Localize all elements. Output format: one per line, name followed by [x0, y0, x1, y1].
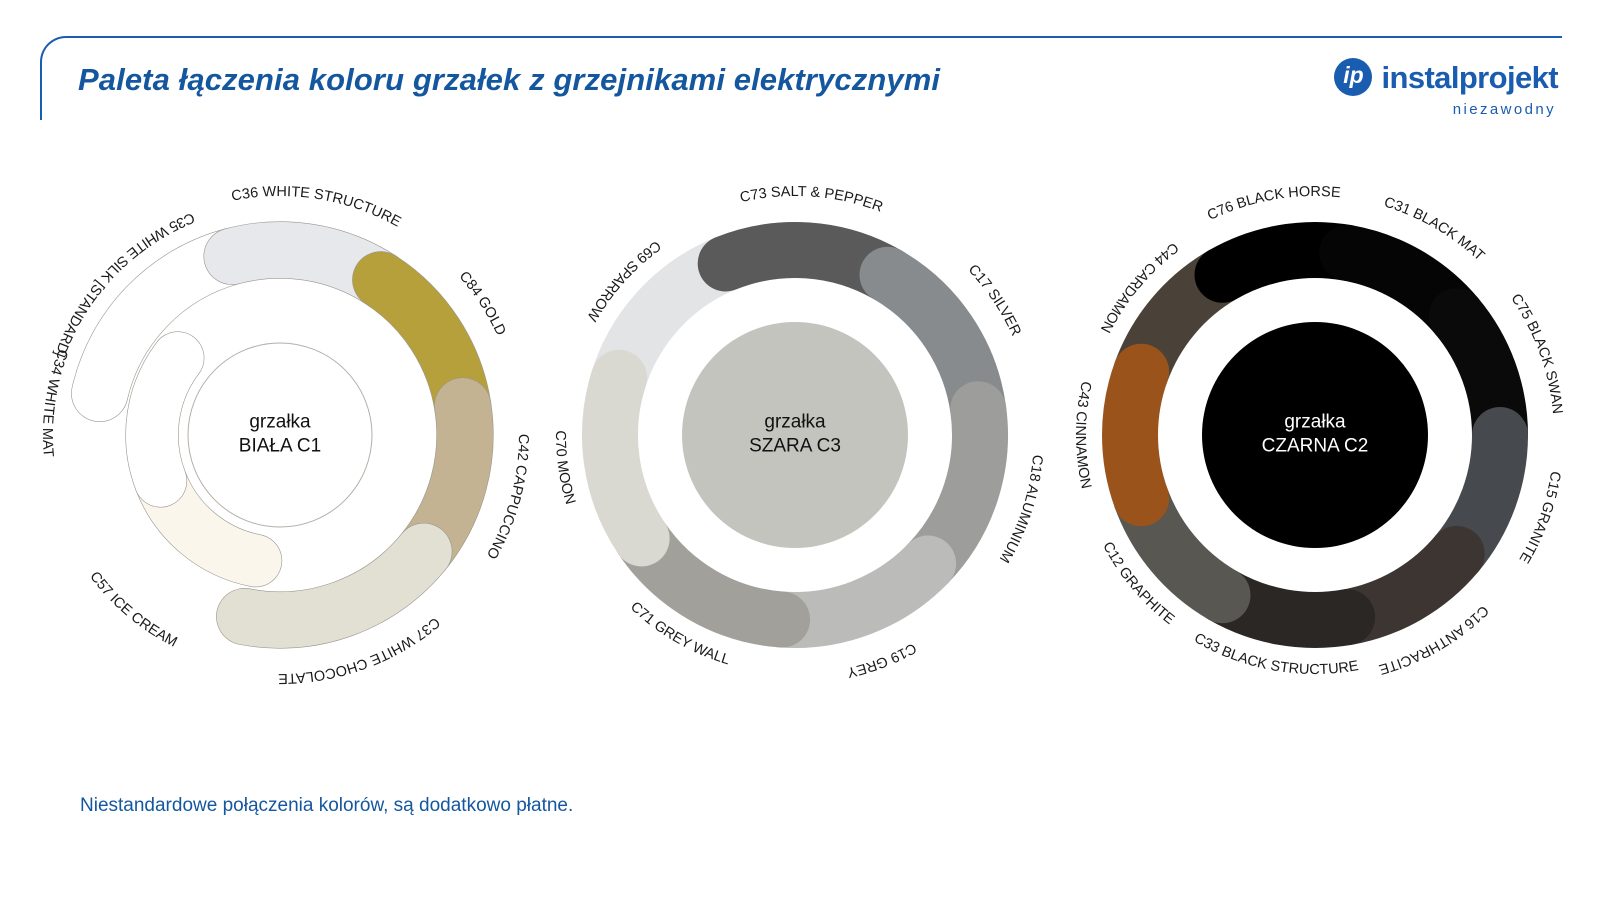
wheel-grey: C69 SPARROWC73 SALT & PEPPERC17 SILVERC1… [525, 150, 1065, 770]
wheel-segment[interactable] [1130, 372, 1141, 499]
wheel-center-label: grzałkaCZARNA C2 [1262, 411, 1369, 460]
wheel-white: C35 WHITE SILK [STANDARD]C36 WHITE STRUC… [10, 150, 550, 770]
ip-logo-icon: ip [1334, 58, 1372, 96]
segment-label: C70 MOON [552, 430, 578, 506]
segment-label: C15 GRANITE [1515, 470, 1563, 566]
segment-label: C34 WHITE MAT [39, 347, 71, 458]
segment-label: C76 BLACK HORSE [1205, 184, 1342, 224]
segment-label: C73 SALT & PEPPER [739, 184, 885, 216]
wheel-center-line2: CZARNA C2 [1262, 435, 1369, 459]
segment-label: C43 CINNAMON [1072, 380, 1094, 490]
wheel-center-line1: grzałka [1262, 411, 1369, 435]
wheel-center-line2: BIAŁA C1 [239, 435, 321, 459]
wheel-center-label: grzałkaSZARA C3 [749, 411, 841, 460]
wheel-center-line1: grzałka [239, 411, 321, 435]
brand-tagline: niezawodny [1288, 101, 1558, 118]
footer-note: Niestandardowe połączenia kolorów, są do… [80, 795, 573, 817]
segment-label: C19 GREY [845, 639, 919, 680]
wheel-center-label: grzałkaBIAŁA C1 [239, 411, 321, 460]
brand-logo: ip instalprojekt niezawodny [1288, 58, 1558, 130]
wheel-segment[interactable] [610, 378, 642, 539]
segment-label: C57 ICE CREAM [86, 569, 179, 651]
wheel-center-line1: grzałka [749, 411, 841, 435]
brand-name: instalprojekt [1381, 62, 1558, 93]
wheel-center-line2: SZARA C3 [749, 435, 841, 459]
page-title: Paleta łączenia koloru grzałek z grzejni… [78, 62, 940, 98]
wheel-black: C44 CARDAMONC76 BLACK HORSEC31 BLACK MAT… [1045, 150, 1585, 770]
wheel-segment[interactable] [152, 358, 178, 481]
color-wheels: C35 WHITE SILK [STANDARD]C36 WHITE STRUC… [0, 150, 1600, 770]
